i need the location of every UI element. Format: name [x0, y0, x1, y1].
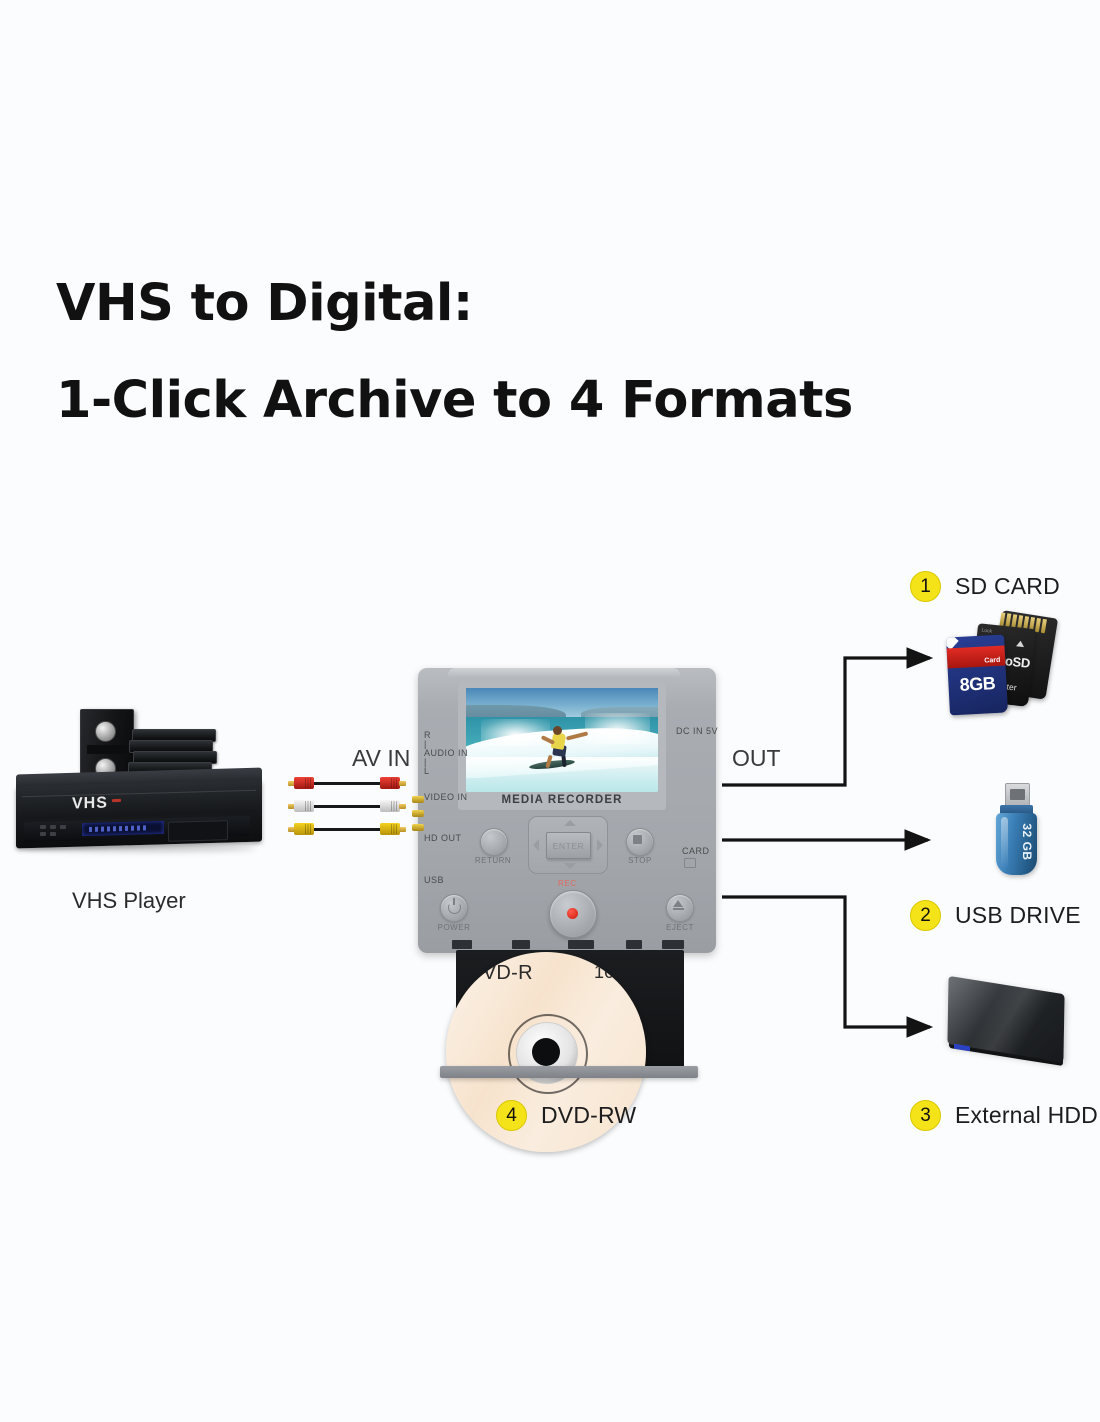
- vcr-button[interactable]: [60, 825, 66, 829]
- eject-button[interactable]: [666, 894, 694, 922]
- sd-card-brand-text: Card: [984, 657, 1000, 665]
- cable-wire: [312, 805, 382, 808]
- rca-cable-red: [288, 776, 406, 791]
- external-hdd-illustration: [948, 985, 1070, 1077]
- dvd-stand-base: [440, 1066, 698, 1078]
- port-label-hd-out: HD OUT: [424, 833, 462, 843]
- rca-plug-left: [288, 776, 314, 790]
- usb-drive-illustration: 32 GB: [988, 783, 1046, 875]
- port-label-audio-l: L: [424, 766, 430, 776]
- cassette-notch: [87, 745, 127, 754]
- cable-wire: [312, 782, 382, 785]
- eject-icon: [673, 900, 683, 907]
- rear-port[interactable]: [626, 940, 642, 949]
- rear-port[interactable]: [512, 940, 530, 949]
- media-recorder-brand-text: MEDIA RECORDER: [466, 794, 658, 806]
- vcr-button[interactable]: [50, 832, 56, 836]
- vcr-button[interactable]: [40, 832, 46, 836]
- stop-square-icon: [633, 835, 642, 844]
- rca-cable-yellow: [288, 822, 406, 837]
- stop-button[interactable]: [626, 828, 654, 856]
- infographic-canvas: VHS to Digital: 1-Click Archive to 4 For…: [0, 0, 1100, 1422]
- badge-1: 1: [910, 571, 941, 602]
- rear-port[interactable]: [568, 940, 594, 949]
- port-label-video-in: VIDEO IN: [424, 792, 468, 802]
- vcr-shadow: [22, 845, 256, 852]
- rca-plug-right: [380, 776, 406, 790]
- title-line-2: 1-Click Archive to 4 Formats: [56, 375, 956, 426]
- output-item-usb-drive: 2 USB DRIVE: [910, 900, 1081, 931]
- power-icon-stem: [453, 898, 455, 905]
- badge-4: 4: [496, 1100, 527, 1131]
- rca-plug-left: [288, 799, 314, 813]
- rca-plug-left: [288, 822, 314, 836]
- vhs-player-illustration: VHS: [8, 705, 276, 860]
- recorder-top-lip: [448, 668, 680, 678]
- vcr-disc-slot: [168, 820, 228, 842]
- rca-barrel: [294, 800, 314, 812]
- screen-spray-left: [481, 719, 550, 746]
- rca-jack-video[interactable]: [412, 796, 424, 803]
- power-button-label: POWER: [434, 923, 474, 932]
- rca-barrel: [380, 777, 400, 789]
- vhs-logo-text: VHS: [72, 794, 108, 813]
- output-item-external-hdd: 3 External HDD: [910, 1100, 1098, 1131]
- dpad-up-icon[interactable]: [564, 820, 576, 826]
- usb-capacity-text: 32 GB: [1020, 811, 1034, 873]
- vhs-player-caption: VHS Player: [72, 888, 186, 914]
- rca-pin: [399, 781, 406, 786]
- port-label-usb: USB: [424, 875, 444, 885]
- rca-barrel: [294, 823, 314, 835]
- disc-center-hole: [532, 1038, 560, 1066]
- output-label-usb-drive: USB DRIVE: [955, 902, 1081, 929]
- rca-cable-bundle: [288, 776, 406, 844]
- output-item-dvd-rw: 4 DVD-RW: [496, 1100, 636, 1131]
- dpad-right-icon[interactable]: [597, 839, 603, 851]
- page-title: VHS to Digital: 1-Click Archive to 4 For…: [56, 278, 956, 426]
- usb-drive-body: 32 GB: [996, 813, 1037, 875]
- cassette-reel-top: [95, 721, 116, 742]
- card-slot-icon[interactable]: [684, 858, 696, 868]
- dpad-control[interactable]: ENTER: [528, 816, 608, 874]
- vcr-display: [82, 821, 164, 836]
- rca-barrel: [380, 823, 400, 835]
- rear-port-strip: [440, 940, 698, 950]
- rca-jack-audio-r[interactable]: [412, 824, 424, 831]
- output-label-external-hdd: External HDD: [955, 1102, 1098, 1129]
- out-label: OUT: [732, 745, 781, 772]
- rca-pin: [399, 804, 406, 809]
- av-in-label: AV IN: [352, 745, 410, 772]
- rear-port[interactable]: [452, 940, 472, 949]
- rca-plug-right: [380, 799, 406, 813]
- arrow-to-external-hdd: [722, 897, 930, 1027]
- vcr-button[interactable]: [50, 825, 56, 829]
- sd-card-brand-band: Card: [947, 646, 1006, 669]
- return-button[interactable]: [480, 828, 508, 856]
- cable-wire: [312, 828, 382, 831]
- output-label-sd-card: SD CARD: [955, 573, 1060, 600]
- screen-spray-right: [585, 713, 650, 744]
- disc-speed-text: 16x: [594, 962, 623, 983]
- sd-card-capacity-text: 8GB: [948, 672, 1007, 696]
- rca-barrel: [380, 800, 400, 812]
- rec-indicator-label: REC: [558, 879, 577, 888]
- sd-card-front: Card 8GB: [946, 635, 1008, 716]
- port-label-dc-in: DC IN 5V: [676, 726, 718, 736]
- dpad-down-icon[interactable]: [564, 863, 576, 869]
- title-line-1: VHS to Digital:: [56, 278, 956, 329]
- return-button-label: RETURN: [473, 856, 513, 865]
- output-label-dvd-rw: DVD-RW: [541, 1102, 636, 1129]
- rca-cable-white: [288, 799, 406, 814]
- power-button[interactable]: [440, 894, 468, 922]
- sd-lock-label: Lock: [981, 628, 992, 635]
- rca-jack-audio-l[interactable]: [412, 810, 424, 817]
- rca-plug-right: [380, 822, 406, 836]
- badge-3: 3: [910, 1100, 941, 1131]
- vcr-button[interactable]: [40, 825, 46, 829]
- sd-card-illustration: Lock microSD Adapter Card 8GB: [948, 612, 1066, 718]
- media-recorder-device: MEDIA RECORDER R | AUDIO IN | L VIDEO IN…: [418, 668, 716, 953]
- eject-button-label: EJECT: [660, 923, 700, 932]
- badge-2: 2: [910, 900, 941, 931]
- recorder-screen: [466, 688, 658, 792]
- output-item-sd-card: 1 SD CARD: [910, 571, 1060, 602]
- record-button[interactable]: [549, 890, 597, 938]
- rca-pin: [399, 827, 406, 832]
- dpad-left-icon[interactable]: [533, 839, 539, 851]
- eject-icon-bar: [673, 908, 684, 910]
- rear-port[interactable]: [662, 940, 684, 949]
- stop-button-label: STOP: [620, 856, 660, 865]
- port-label-card: CARD: [682, 846, 710, 856]
- record-dot-icon: [567, 908, 578, 919]
- rca-barrel: [294, 777, 314, 789]
- sd-direction-arrow-icon: [1016, 640, 1025, 647]
- vcr-indicator-led: [112, 799, 121, 802]
- port-label-audio-in: AUDIO IN: [424, 748, 468, 758]
- enter-button[interactable]: ENTER: [546, 832, 591, 859]
